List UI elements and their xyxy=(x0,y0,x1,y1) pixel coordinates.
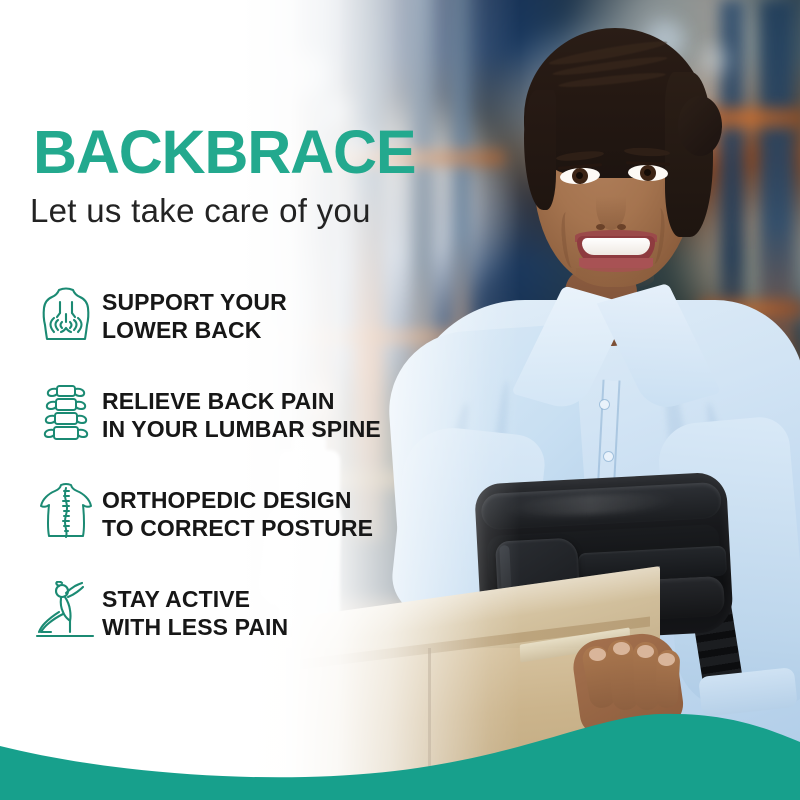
hair-bun xyxy=(678,96,722,156)
feature-item: STAY ACTIVE WITH LESS PAIN xyxy=(30,579,450,678)
vertebrae-stack-icon xyxy=(30,381,102,443)
feature-item: ORTHOPEDIC DESIGN TO CORRECT POSTURE xyxy=(30,480,450,579)
feature-label: SUPPORT YOUR LOWER BACK xyxy=(102,282,287,344)
back-torso-pain-icon xyxy=(30,282,102,342)
feature-item: RELIEVE BACK PAIN IN YOUR LUMBAR SPINE xyxy=(30,381,450,480)
fingernail xyxy=(589,648,606,661)
tagline: Let us take care of you xyxy=(30,192,371,230)
stretching-person-icon xyxy=(30,579,102,639)
feature-label: ORTHOPEDIC DESIGN TO CORRECT POSTURE xyxy=(102,480,373,542)
hair xyxy=(524,90,556,210)
feature-list: SUPPORT YOUR LOWER BACK xyxy=(30,282,450,678)
shirt-button xyxy=(604,452,613,461)
shirt-button xyxy=(600,400,609,409)
nose xyxy=(596,182,626,230)
fingernail xyxy=(613,642,630,655)
fingernail xyxy=(658,653,675,666)
feature-item: SUPPORT YOUR LOWER BACK xyxy=(30,282,450,381)
fingernail xyxy=(637,645,654,658)
product-advertisement: BACKBRACE Let us take care of you SUPPOR… xyxy=(0,0,800,800)
feature-label: RELIEVE BACK PAIN IN YOUR LUMBAR SPINE xyxy=(102,381,381,443)
feature-label: STAY ACTIVE WITH LESS PAIN xyxy=(102,579,288,641)
nostril xyxy=(596,224,605,230)
spine-posture-icon xyxy=(30,480,102,538)
chin xyxy=(576,268,654,290)
page-title: BACKBRACE xyxy=(33,122,415,183)
bottom-wave-decoration xyxy=(0,680,800,800)
